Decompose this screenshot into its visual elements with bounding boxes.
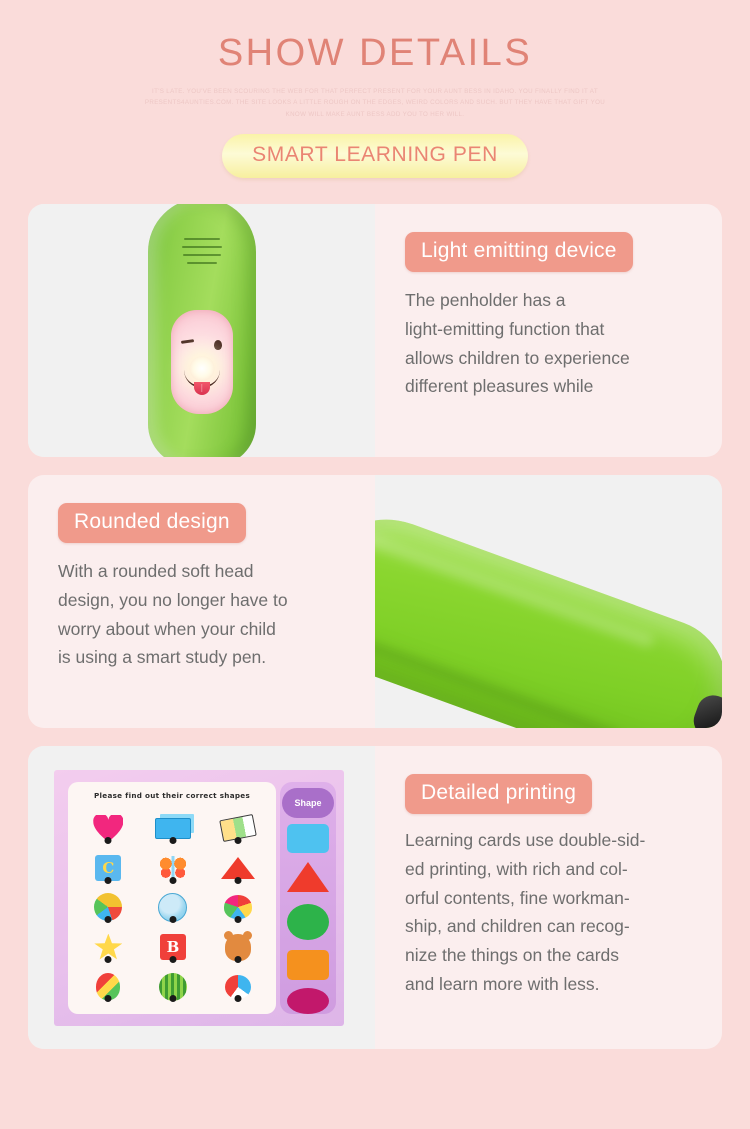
grid-cell xyxy=(205,848,270,888)
touch-dot xyxy=(105,837,112,844)
red-trapezoid-icon xyxy=(221,857,255,879)
feature-badge: Light emitting device xyxy=(405,232,633,272)
feature-card-rounded-design: Rounded design With a rounded soft head … xyxy=(28,475,722,728)
feature-copy: Light emitting device The penholder has … xyxy=(375,204,722,457)
pill-container: SMART LEARNING PEN xyxy=(0,134,750,178)
grid-cell xyxy=(76,927,141,967)
grid-cell xyxy=(76,808,141,848)
red-triangle-icon xyxy=(287,862,329,892)
touch-dot xyxy=(105,956,112,963)
learning-card-photo: Please find out their correct shapes C xyxy=(28,746,375,1049)
grid-cell: B xyxy=(141,927,206,967)
shape-label: Shape xyxy=(282,788,334,818)
grid-cell xyxy=(205,927,270,967)
smart-learning-pen-badge[interactable]: SMART LEARNING PEN xyxy=(222,134,528,178)
touch-dot xyxy=(169,995,176,1002)
feature-badge: Detailed printing xyxy=(405,774,592,814)
grid-cell xyxy=(205,967,270,1007)
touch-dot xyxy=(234,837,241,844)
touch-dot xyxy=(105,995,112,1002)
page-title: SHOW DETAILS xyxy=(0,34,750,72)
blue-rectangle-icon xyxy=(287,824,329,853)
feature-description: Learning cards use double-sid- ed printi… xyxy=(405,826,700,998)
grid-cell xyxy=(205,808,270,848)
touch-dot xyxy=(234,956,241,963)
tongue-icon xyxy=(194,382,210,395)
feature-copy: Detailed printing Learning cards use dou… xyxy=(375,746,722,1049)
touch-dot xyxy=(169,956,176,963)
grid-cell xyxy=(76,888,141,928)
learning-card-white-area: Please find out their correct shapes C xyxy=(68,782,276,1014)
feature-card-list: Light emitting device The penholder has … xyxy=(28,204,722,1049)
grid-cell xyxy=(205,888,270,928)
magenta-ellipse-icon xyxy=(287,988,329,1014)
grid-cell xyxy=(141,967,206,1007)
feature-badge: Rounded design xyxy=(58,503,246,543)
green-circle-icon xyxy=(287,904,329,940)
feature-description: With a rounded soft head design, you no … xyxy=(58,557,345,672)
page-header: SHOW DETAILS IT'S LATE. YOU'VE BEEN SCOU… xyxy=(0,0,750,178)
speaker-vent-icon xyxy=(181,238,223,270)
grid-cell xyxy=(141,888,206,928)
pen-body-graphic xyxy=(148,204,256,457)
touch-dot xyxy=(105,916,112,923)
open-eye-icon xyxy=(214,340,222,350)
pen-light-emitting-face-photo xyxy=(28,204,375,457)
grid-cell xyxy=(141,848,206,888)
grid-cell: C xyxy=(76,848,141,888)
learning-card-object-grid: C B xyxy=(76,808,270,1006)
feature-copy: Rounded design With a rounded soft head … xyxy=(28,475,375,728)
grid-cell xyxy=(76,967,141,1007)
pen-tip-graphic xyxy=(375,498,722,728)
touch-dot xyxy=(105,877,112,884)
winking-eye-icon xyxy=(180,340,193,344)
pen-nib-icon xyxy=(689,691,722,728)
touch-dot xyxy=(169,916,176,923)
orange-square-icon xyxy=(287,950,329,980)
pen-rounded-tip-photo xyxy=(375,475,722,728)
touch-dot xyxy=(234,877,241,884)
learning-card-graphic: Please find out their correct shapes C xyxy=(54,770,344,1026)
touch-dot xyxy=(169,837,176,844)
feature-description: The penholder has a light-emitting funct… xyxy=(405,286,695,401)
touch-dot xyxy=(234,995,241,1002)
show-details-page: SHOW DETAILS IT'S LATE. YOU'VE BEEN SCOU… xyxy=(0,0,750,1129)
feature-card-light-emitting: Light emitting device The penholder has … xyxy=(28,204,722,457)
smiley-face-panel xyxy=(171,310,233,414)
feature-card-detailed-printing: Please find out their correct shapes C xyxy=(28,746,722,1049)
learning-card-shape-column: Shape xyxy=(280,782,336,1014)
learning-card-heading: Please find out their correct shapes xyxy=(68,791,276,800)
touch-dot xyxy=(234,916,241,923)
grid-cell xyxy=(141,808,206,848)
touch-dot xyxy=(169,877,176,884)
blue-box-icon xyxy=(155,818,191,839)
page-subtitle: IT'S LATE. YOU'VE BEEN SCOURING THE WEB … xyxy=(135,86,615,120)
